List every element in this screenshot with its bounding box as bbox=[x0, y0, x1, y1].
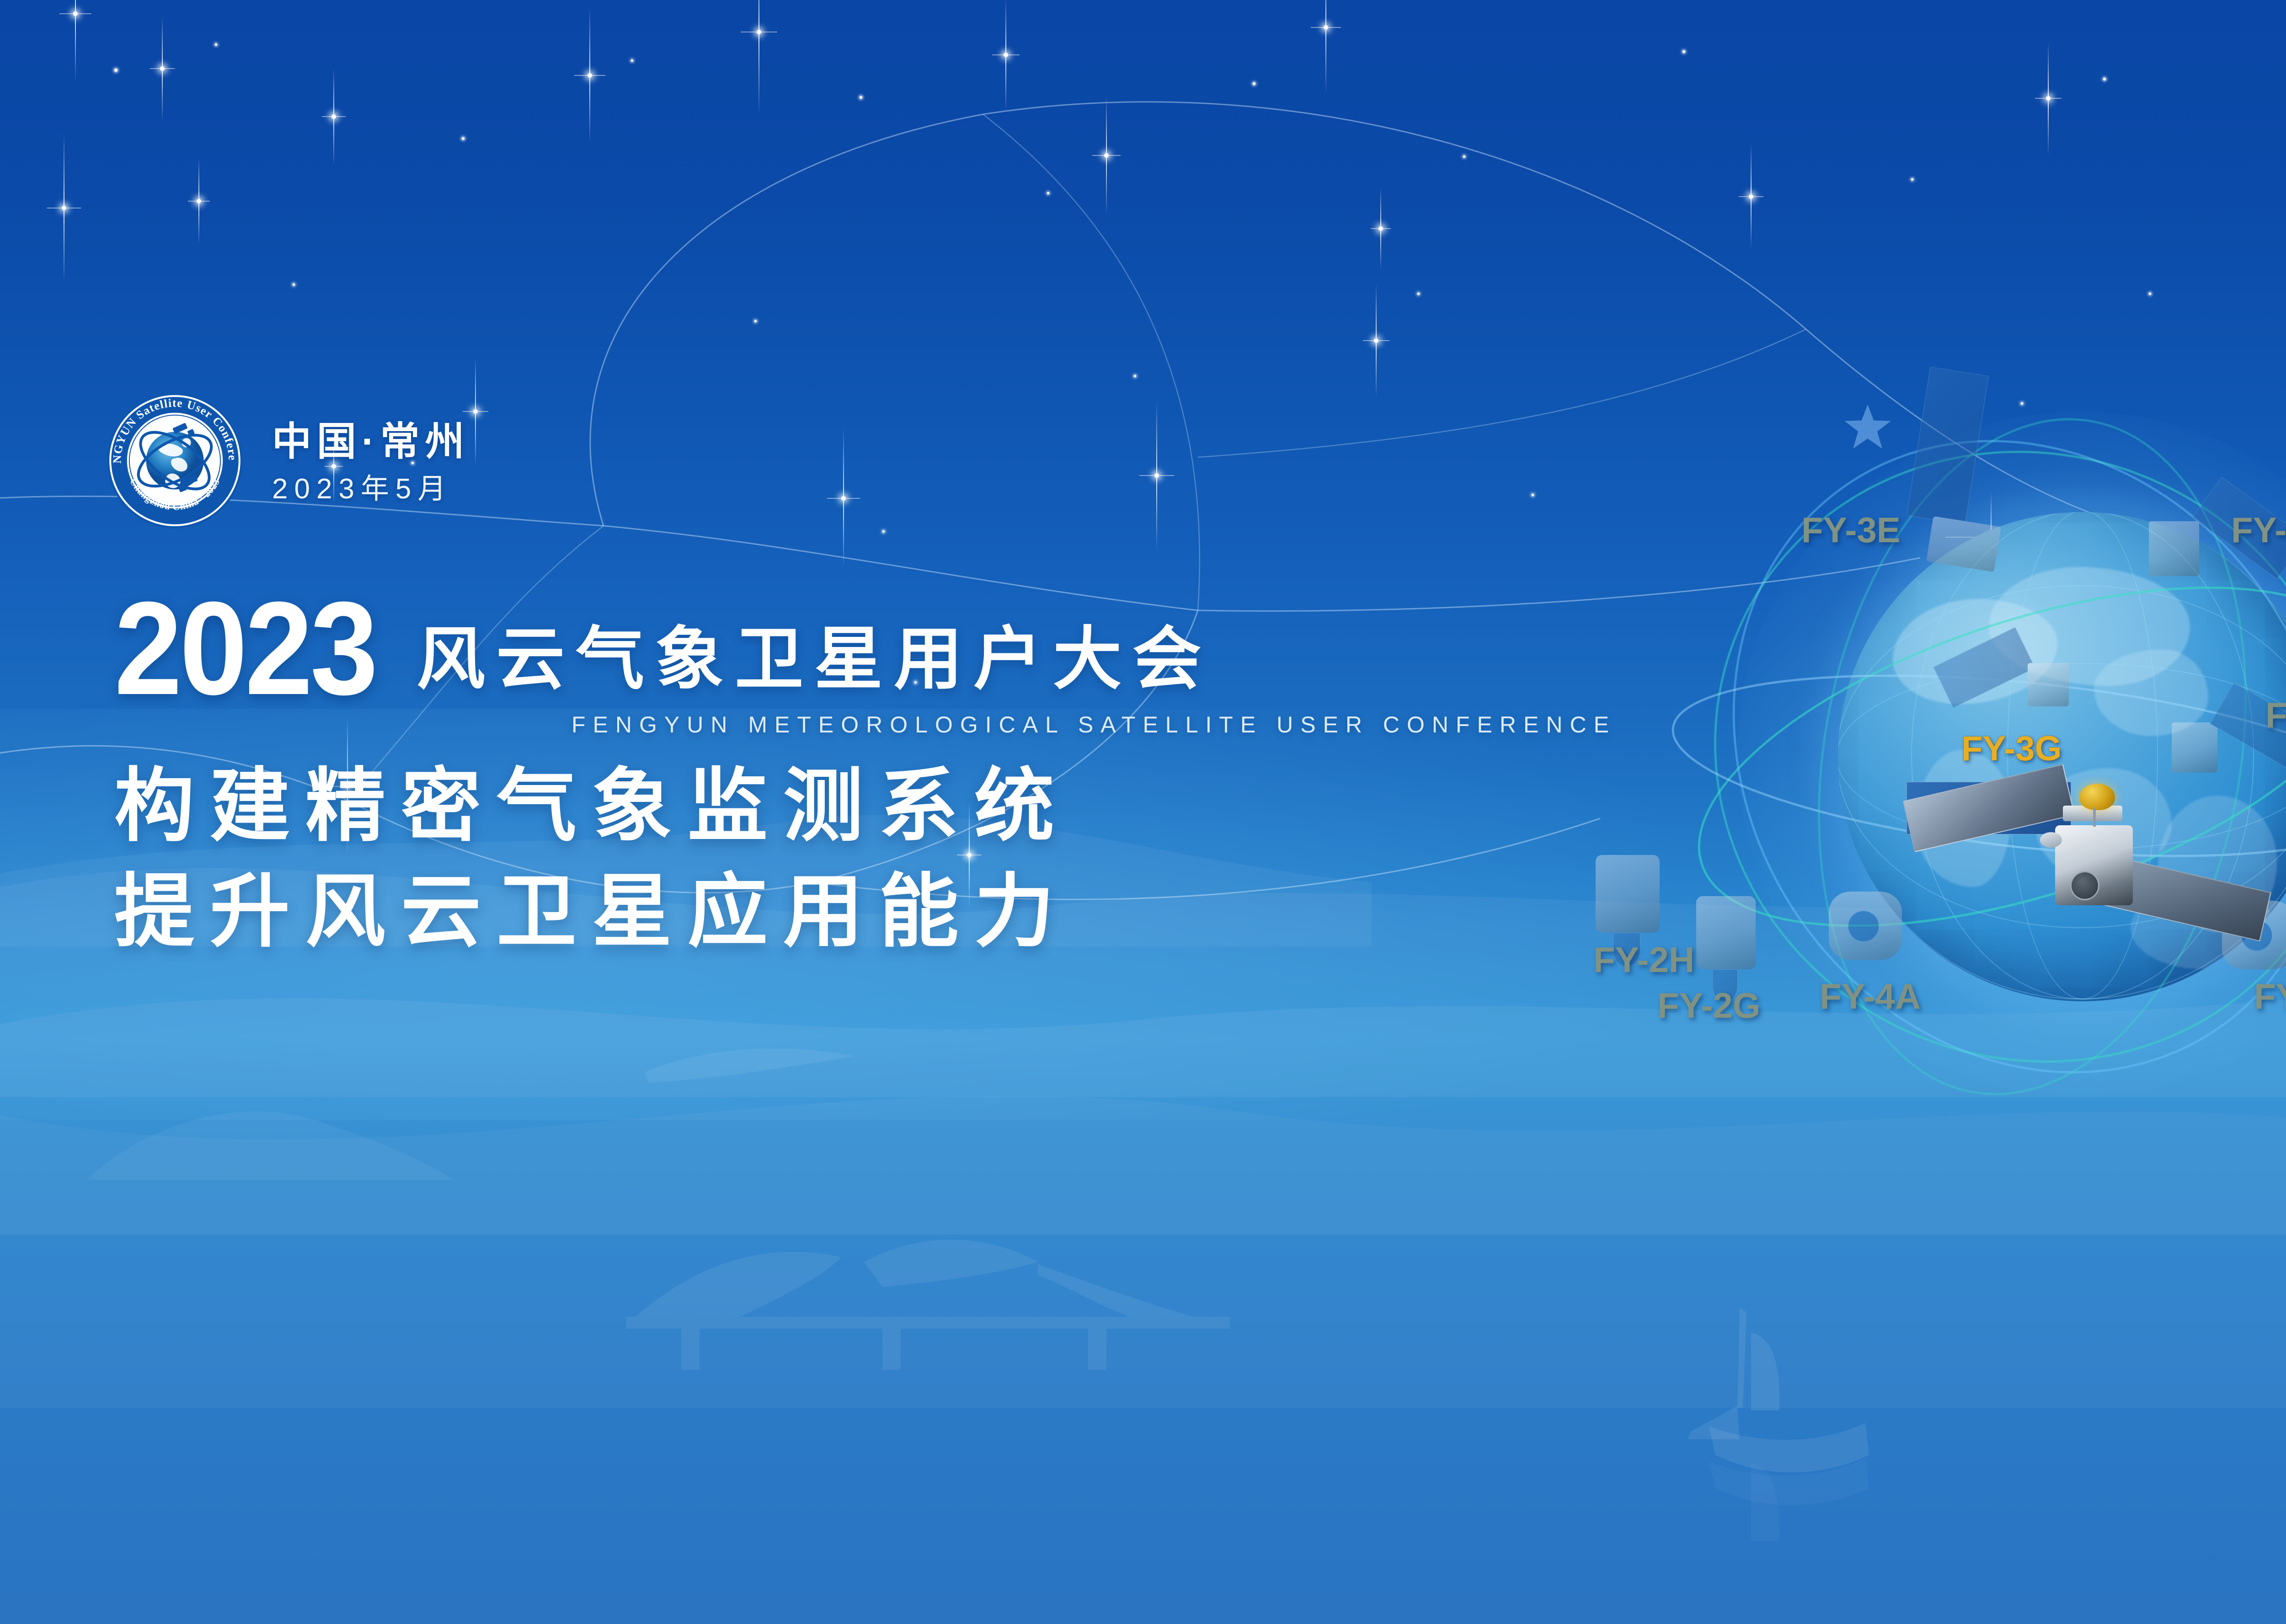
venue-info: 中国·常州 2023年5月 bbox=[272, 418, 470, 503]
changzhou-bridge-silhouette bbox=[626, 1202, 1230, 1385]
slogan-line-2: 提升风云卫星应用能力 bbox=[114, 859, 1669, 965]
venue-date: 2023年5月 bbox=[272, 475, 470, 503]
satellite-label-fy-4a: FY-4A bbox=[1820, 978, 1921, 1014]
satellite-fy3e-illustration bbox=[1904, 370, 2009, 585]
satellite-label-fy-3e: FY-3E bbox=[1801, 512, 1901, 548]
satellite-antenna-dish bbox=[2079, 784, 2115, 810]
pagoda-silhouette bbox=[59, 1006, 471, 1244]
satellite-label-fy-2g: FY-2G bbox=[1657, 988, 1760, 1023]
satellite-fy4a-illustration bbox=[1820, 882, 1916, 974]
blue-star-icon bbox=[1843, 402, 1893, 453]
conference-title-en: FENGYUN METEOROLOGICAL SATELLITE USER CO… bbox=[571, 713, 1669, 736]
venue-city: 中国·常州 bbox=[272, 422, 470, 461]
satellite-label-fy-3d: FY-3D bbox=[2265, 697, 2286, 733]
year-2023: 2023 bbox=[114, 594, 375, 703]
conference-emblem: FENGYUN Satellite User Conference Changz… bbox=[105, 391, 245, 530]
plane-silhouette bbox=[631, 1029, 869, 1111]
headline-main-row: 2023 风云气象卫星用户大会 bbox=[114, 594, 1669, 703]
slogan-line-1: 构建精密气象监测系统 bbox=[114, 753, 1669, 859]
fy3g-satellite-illustration bbox=[1961, 777, 2286, 992]
satellite-label-fy-2h: FY-2H bbox=[1593, 942, 1694, 978]
satellite-extra-illustration bbox=[1939, 631, 2076, 736]
slogan-block: 构建精密气象监测系统 提升风云卫星应用能力 bbox=[114, 753, 1669, 965]
headline-block: 2023 风云气象卫星用户大会 FENGYUN METEOROLOGICAL S… bbox=[114, 594, 1669, 965]
conference-title-cn: 风云气象卫星用户大会 bbox=[417, 625, 1212, 703]
logo-block: FENGYUN Satellite User Conference Changz… bbox=[105, 391, 470, 530]
satellite-label-fy-3c: FY-3C bbox=[2231, 512, 2286, 548]
conference-poster: FENGYUN Satellite User Conference Changz… bbox=[0, 0, 2286, 1624]
sailboat-silhouette bbox=[1682, 1294, 1902, 1550]
satellite-label-fy-3g: FY-3G bbox=[1961, 732, 2062, 766]
